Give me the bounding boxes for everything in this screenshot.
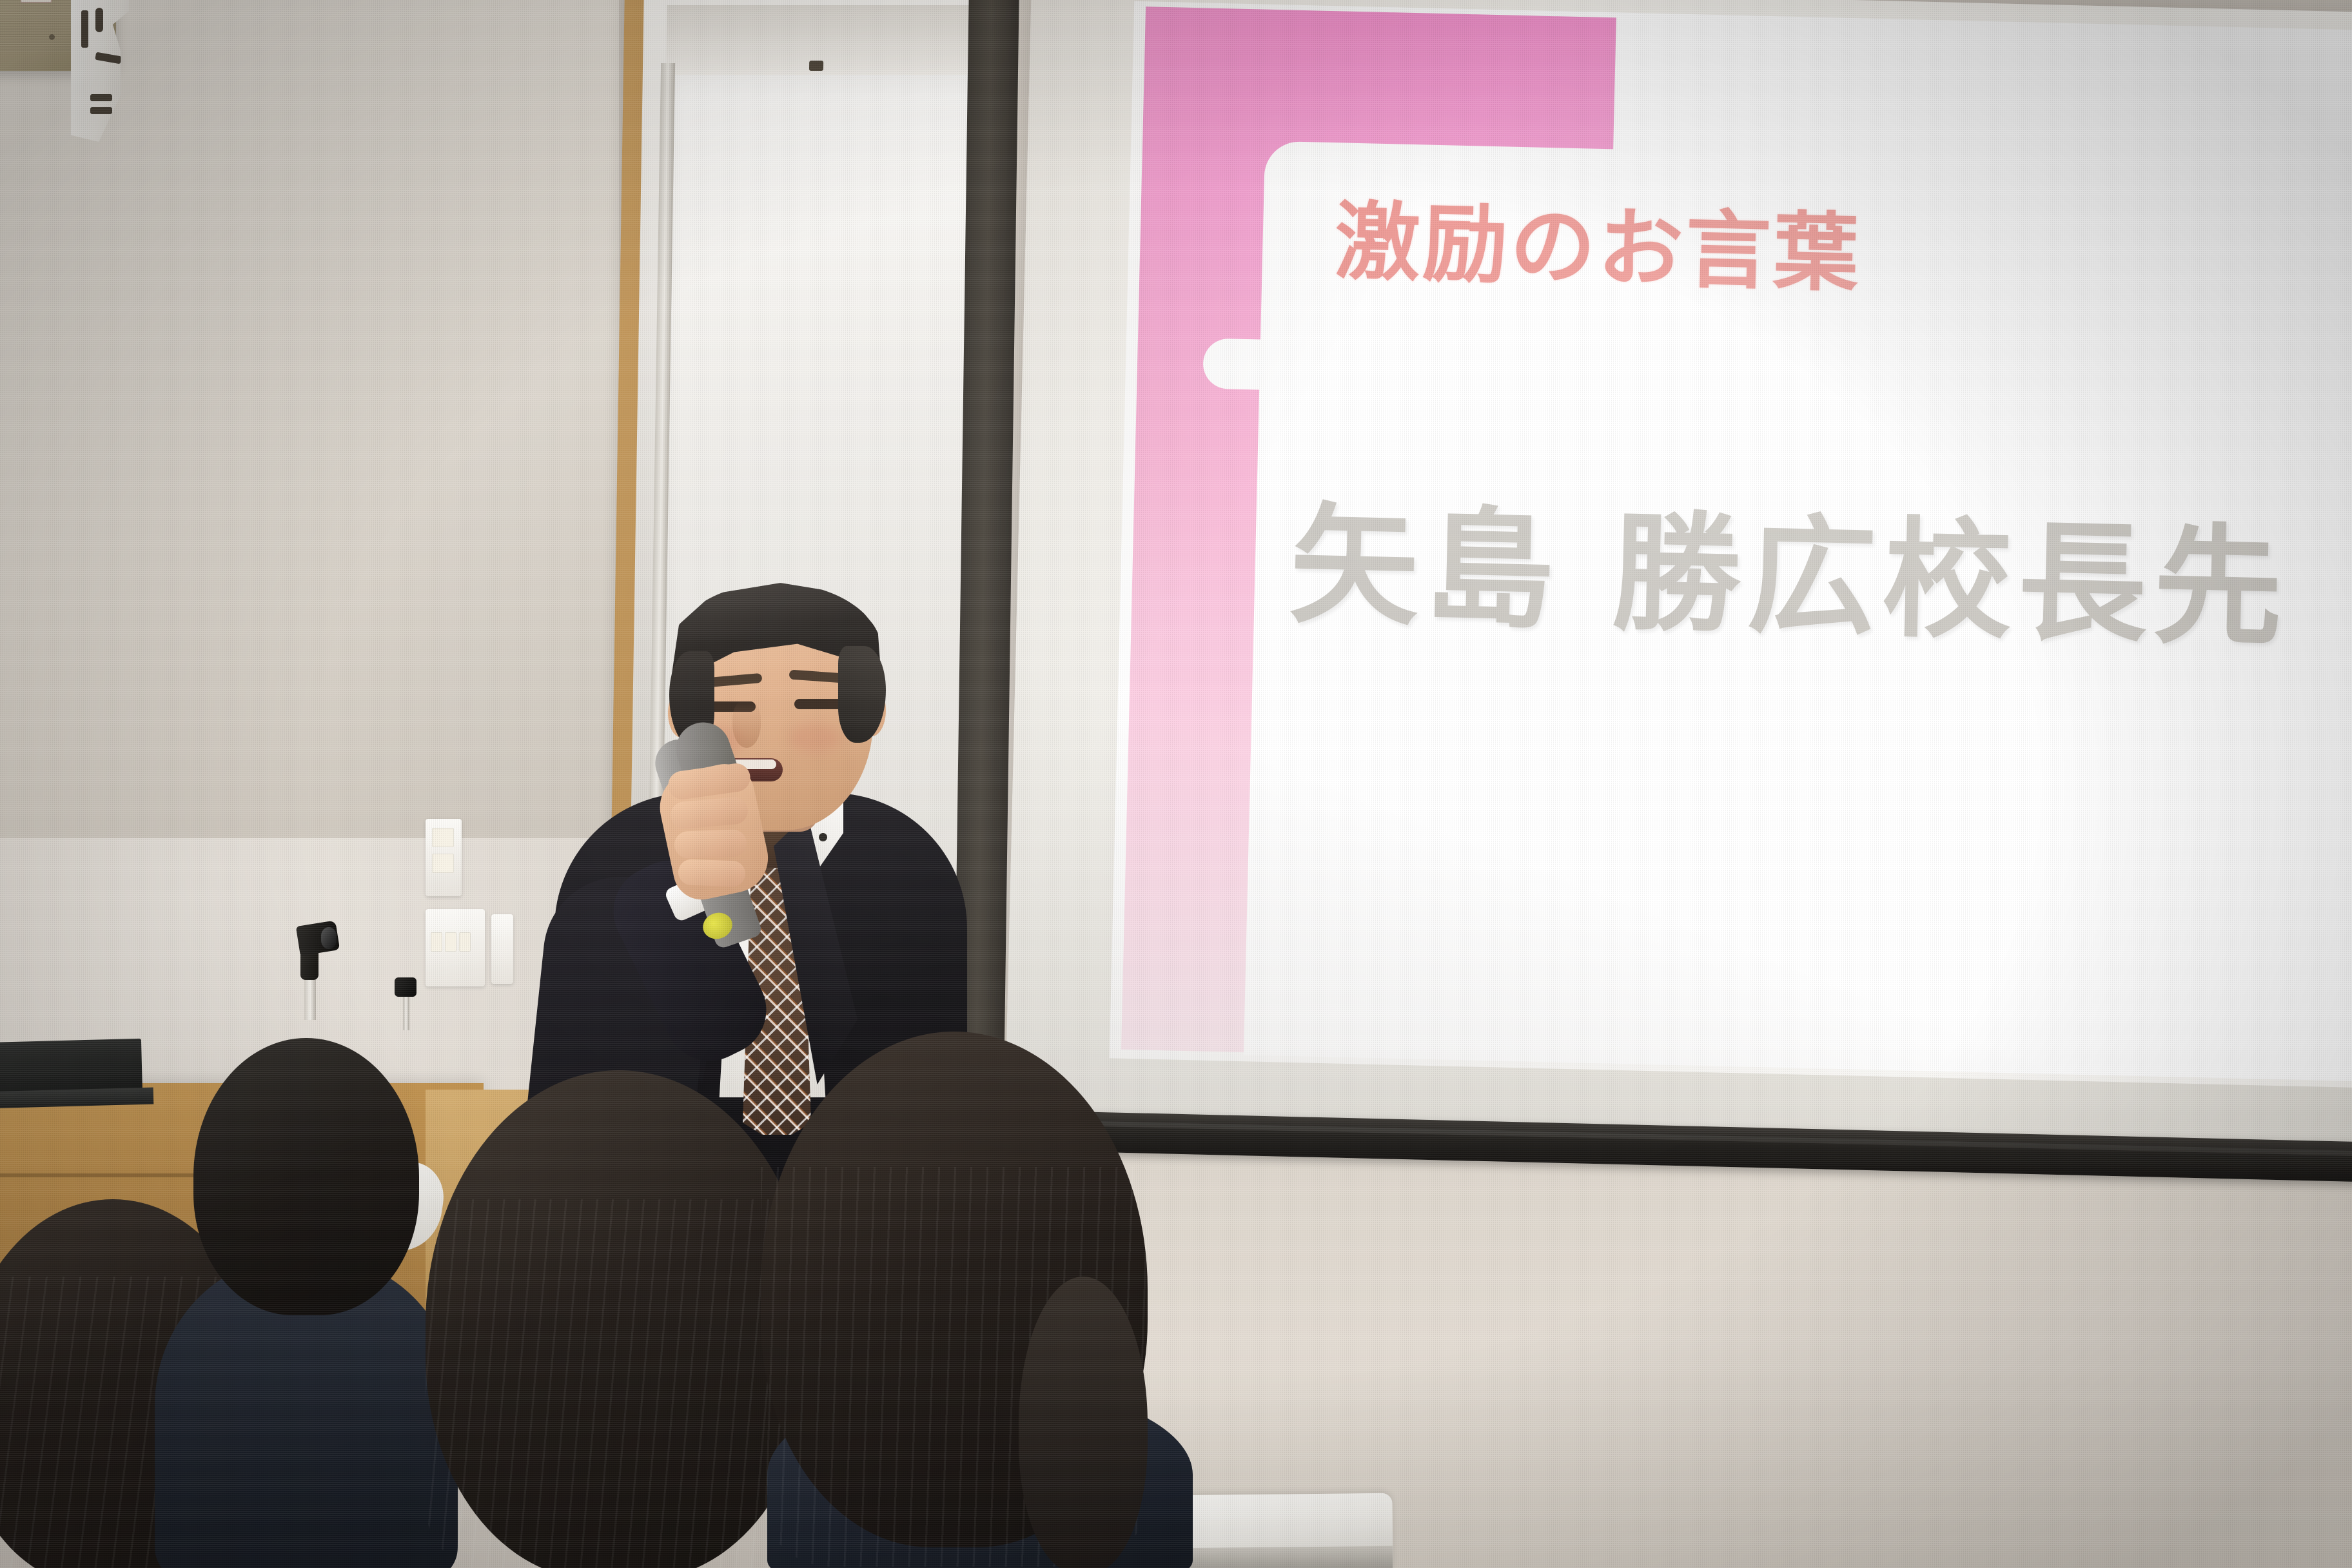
bracket-slot xyxy=(95,8,103,32)
presenter-finger xyxy=(678,859,745,887)
bracket-slot xyxy=(90,107,112,114)
wall-switch-plate-upper[interactable] xyxy=(426,819,462,896)
laptop-screen[interactable] xyxy=(0,1039,142,1096)
switch-toggle[interactable] xyxy=(431,932,442,952)
desk-mic-post xyxy=(403,993,409,1030)
screenshot-root: 激励のお言葉 矢島 勝広校長先 2 xyxy=(0,0,2352,1568)
switch-toggle[interactable] xyxy=(459,932,471,952)
slide-speaker-name: 矢島 勝広校長先 xyxy=(1288,502,2290,654)
switch-toggle[interactable] xyxy=(432,854,454,873)
bracket-slot xyxy=(95,52,121,64)
switch-toggle[interactable] xyxy=(445,932,456,952)
wall-switch-plate-lower[interactable] xyxy=(426,909,485,986)
camera-stand-post xyxy=(304,975,316,1020)
presenter-cheek xyxy=(789,723,841,753)
projection-screen: 激励のお言葉 矢島 勝広校長先 2 xyxy=(1004,0,2352,1186)
bracket-slot xyxy=(90,94,112,101)
bracket-slot xyxy=(81,10,88,48)
slide-page-number: 2 xyxy=(1277,952,1299,996)
whiteboard-knob xyxy=(809,61,823,71)
speaker-label xyxy=(21,0,52,3)
projection-screen-surface: 激励のお言葉 矢島 勝広校長先 2 xyxy=(1005,0,2352,1147)
slide-title: 激励のお言葉 xyxy=(1334,199,1862,297)
collar-button xyxy=(819,833,827,841)
speaker-screw xyxy=(49,34,55,40)
presenter-finger xyxy=(674,829,747,859)
presenter-nose xyxy=(732,700,761,748)
audience-hair-strands xyxy=(426,1199,812,1568)
whiteboard-top-band xyxy=(666,5,994,75)
audience-head xyxy=(1019,1277,1148,1568)
desk-mic-head xyxy=(395,977,416,997)
switch-toggle[interactable] xyxy=(432,828,454,847)
slide-card-tab xyxy=(1202,338,1313,391)
presentation-slide: 激励のお言葉 矢島 勝広校長先 2 xyxy=(1110,1,2352,1088)
audience-head xyxy=(193,1038,419,1315)
wall-outlet-plate[interactable] xyxy=(491,914,513,984)
camera-lens xyxy=(321,927,337,949)
